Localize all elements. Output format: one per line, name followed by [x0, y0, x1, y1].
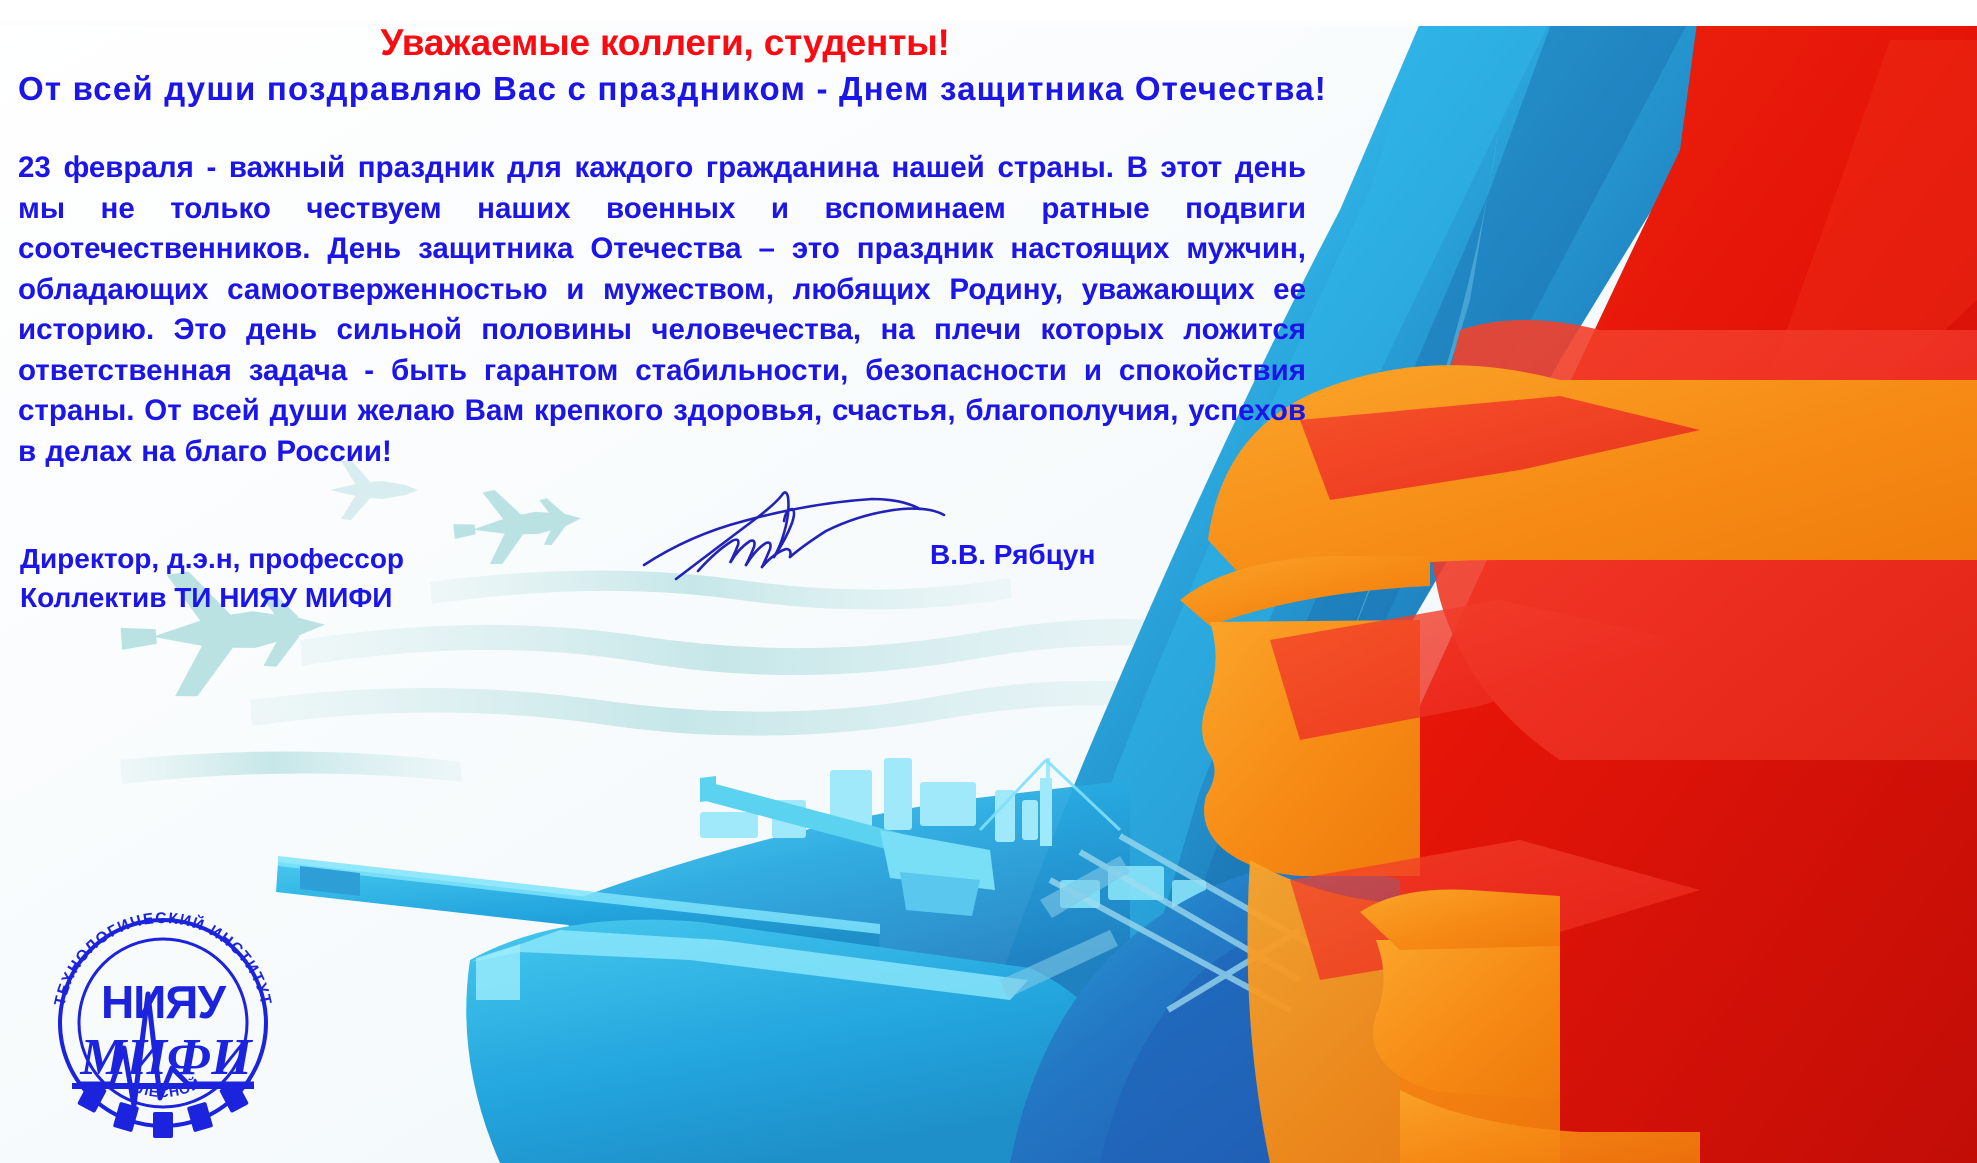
soldier-profile-front: [1180, 365, 1977, 1163]
signature-role-line-1: Директор, д.э.н, профессор: [20, 539, 404, 578]
page-title: Уважаемые коллеги, студенты!: [0, 22, 1330, 64]
greeting-subtitle: От всей души поздравляю Вас с праздником…: [18, 70, 1318, 108]
emblem-acronym-top: НИЯУ: [101, 976, 227, 1028]
top-white-edge: [0, 0, 1977, 26]
university-emblem: ТЕХНОЛОГИЧЕСКИЙ ИНСТИТУТ г. ЛЕСНОЙ НИЯУ …: [38, 898, 288, 1148]
greeting-poster: Уважаемые коллеги, студенты! От всей душ…: [0, 0, 1977, 1163]
handwritten-signature: [640, 487, 970, 587]
greeting-body-text: 23 февраля - важный праздник для каждого…: [18, 148, 1306, 472]
signature-role: Директор, д.э.н, профессор Коллектив ТИ …: [20, 539, 404, 617]
signature-role-line-2: Коллектив ТИ НИЯУ МИФИ: [20, 578, 404, 617]
